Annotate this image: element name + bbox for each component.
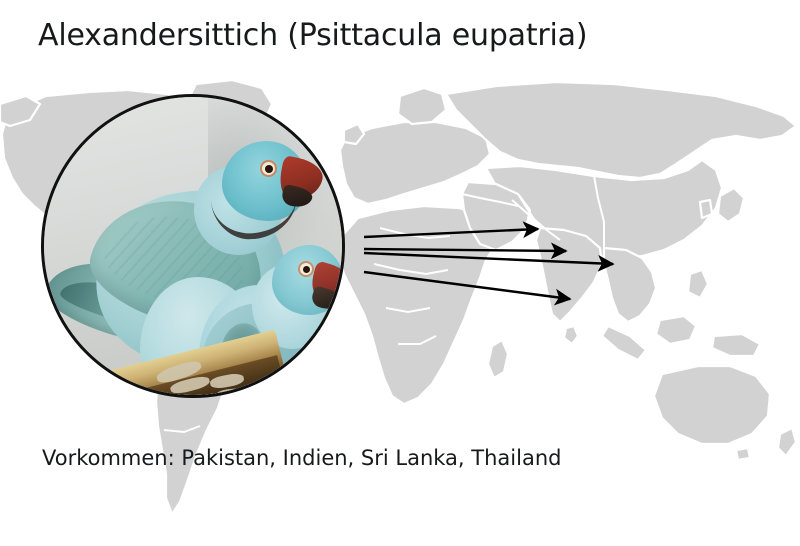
landmass-europe: [340, 122, 490, 204]
arrow-to-pakistan-north-india: [364, 229, 538, 237]
landmass-middle-east: [462, 182, 530, 250]
landmass-central-asia: [486, 160, 722, 258]
parakeet-photo: [44, 97, 342, 395]
bird-rear-pupil: [265, 165, 273, 173]
landmass-india: [536, 228, 602, 322]
landmass-japan: [718, 188, 744, 222]
landmass-northern-asia: [446, 82, 796, 178]
bird-front-pupil: [303, 266, 310, 273]
arrow-to-bangladesh-thailand: [364, 253, 613, 264]
landmass-new-zealand: [778, 428, 796, 456]
parakeet-photo-circle: [41, 94, 345, 398]
slide-canvas: Alexandersittich (Psittacula eupatria): [0, 0, 800, 546]
landmass-scandinavia: [398, 88, 446, 124]
landmass-tasmania: [736, 448, 750, 460]
landmass-sumatra: [602, 326, 646, 360]
landmass-australia: [654, 366, 770, 444]
landmass-indochina: [604, 248, 656, 322]
landmass-new-guinea: [712, 334, 760, 356]
landmass-madagascar: [488, 340, 508, 378]
landmass-british-isles: [344, 124, 364, 144]
landmass-borneo: [656, 316, 696, 344]
landmass-sri-lanka: [564, 326, 578, 344]
arrow-to-sri-lanka: [364, 272, 570, 299]
arrow-to-north-india: [364, 249, 566, 251]
occurrence-caption: Vorkommen: Pakistan, Indien, Sri Lanka, …: [42, 446, 561, 470]
landmass-philippines: [688, 270, 708, 298]
landmass-korea: [700, 200, 712, 218]
landmass-alaska: [0, 96, 40, 126]
page-title: Alexandersittich (Psittacula eupatria): [38, 18, 587, 53]
landmass-africa: [338, 206, 500, 404]
